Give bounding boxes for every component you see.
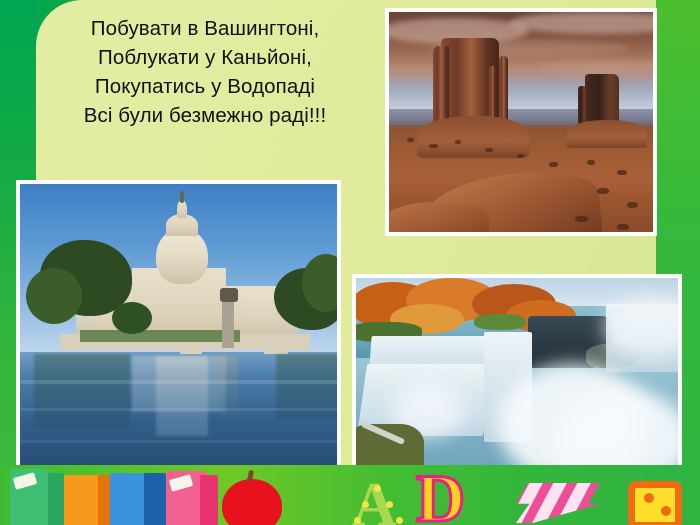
capitol-pool-post	[180, 342, 202, 354]
capitol-lawn	[80, 330, 240, 342]
zigzag-ribbon-icon	[516, 483, 600, 523]
capitol-monument-plinth	[222, 296, 234, 348]
niagara-falls-artwork	[356, 278, 678, 478]
canyon-rock-speck	[455, 140, 461, 144]
capitol-tree-reflection	[34, 354, 130, 428]
canyon-talus-slope	[417, 116, 529, 158]
canyon-butte-thumb	[499, 56, 508, 122]
capitol-tree-left	[26, 268, 82, 324]
verse-line-4: Всі були безмежно раді!!!	[40, 101, 370, 130]
book-green	[10, 469, 50, 525]
us-capitol-photo	[16, 180, 341, 477]
canyon-rock-speck	[627, 202, 638, 208]
book-blue	[110, 473, 148, 525]
canyon-butte-left-spur	[433, 46, 449, 122]
canyon-rock-speck	[617, 224, 629, 230]
letter-a-dot	[374, 485, 381, 492]
apple-icon	[222, 479, 282, 525]
letter-a-dot	[362, 501, 369, 508]
canyon-rock-speck	[407, 138, 414, 142]
canyon-butte-right-spur	[578, 86, 586, 126]
canyon-rock-speck	[575, 216, 588, 222]
dice-block-icon	[628, 481, 682, 525]
book-darkblue	[144, 473, 166, 525]
letter-a-dot	[386, 501, 393, 508]
canyon-rock-speck	[517, 154, 524, 158]
capitol-dome-reflection	[156, 356, 208, 436]
capitol-shrub	[112, 302, 152, 334]
canyon-rock-speck	[549, 162, 558, 167]
capitol-water-ripple	[20, 408, 337, 411]
verse-text-block: Побувати в Вашингтоні, Поблукати у Каньй…	[40, 14, 370, 130]
dice-pip	[644, 493, 654, 503]
bottom-green-band: A D	[0, 465, 700, 525]
slide-canvas: Побувати в Вашингтоні, Поблукати у Каньй…	[0, 0, 700, 525]
capitol-statue-of-freedom	[180, 191, 184, 203]
monument-valley-photo	[385, 8, 657, 236]
book-orange-spine	[98, 475, 110, 525]
verse-line-1: Побувати в Вашингтоні,	[40, 14, 370, 43]
letter-a-dot	[354, 517, 361, 524]
capitol-monument-statue	[220, 288, 238, 302]
niagara-falls-photo	[352, 274, 682, 482]
monument-valley-artwork	[389, 12, 653, 232]
letter-a-icon: A	[352, 479, 410, 525]
dice-pip	[661, 506, 671, 516]
verse-line-3: Покупатись у Водопаді	[40, 72, 370, 101]
canyon-cloud	[539, 60, 657, 72]
canyon-rock-speck	[429, 144, 438, 148]
canyon-rock-speck	[597, 188, 609, 194]
canyon-rock-speck	[617, 170, 627, 175]
capitol-water-ripple	[20, 440, 337, 443]
letter-a-dot	[396, 517, 403, 524]
canyon-rock-speck	[485, 148, 493, 152]
letter-d-icon: D	[416, 469, 465, 525]
capitol-dome	[156, 228, 208, 284]
book-page	[13, 472, 37, 490]
capitol-pool-post	[264, 342, 288, 354]
falls-green-bank	[474, 314, 526, 330]
verse-line-2: Поблукати у Каньйоні,	[40, 43, 370, 72]
book-magenta	[200, 475, 218, 525]
canyon-rock-speck	[587, 160, 595, 165]
canyon-butte-spire	[489, 66, 496, 122]
canyon-butte-right	[585, 74, 619, 126]
us-capitol-artwork	[20, 184, 337, 473]
book-green-spine	[48, 473, 64, 525]
canyon-talus-right	[567, 120, 647, 148]
capitol-water-ripple	[20, 380, 337, 384]
canyon-foreground-ridge	[385, 202, 489, 236]
book-page	[169, 474, 193, 492]
capitol-monument-reflection	[218, 356, 238, 416]
